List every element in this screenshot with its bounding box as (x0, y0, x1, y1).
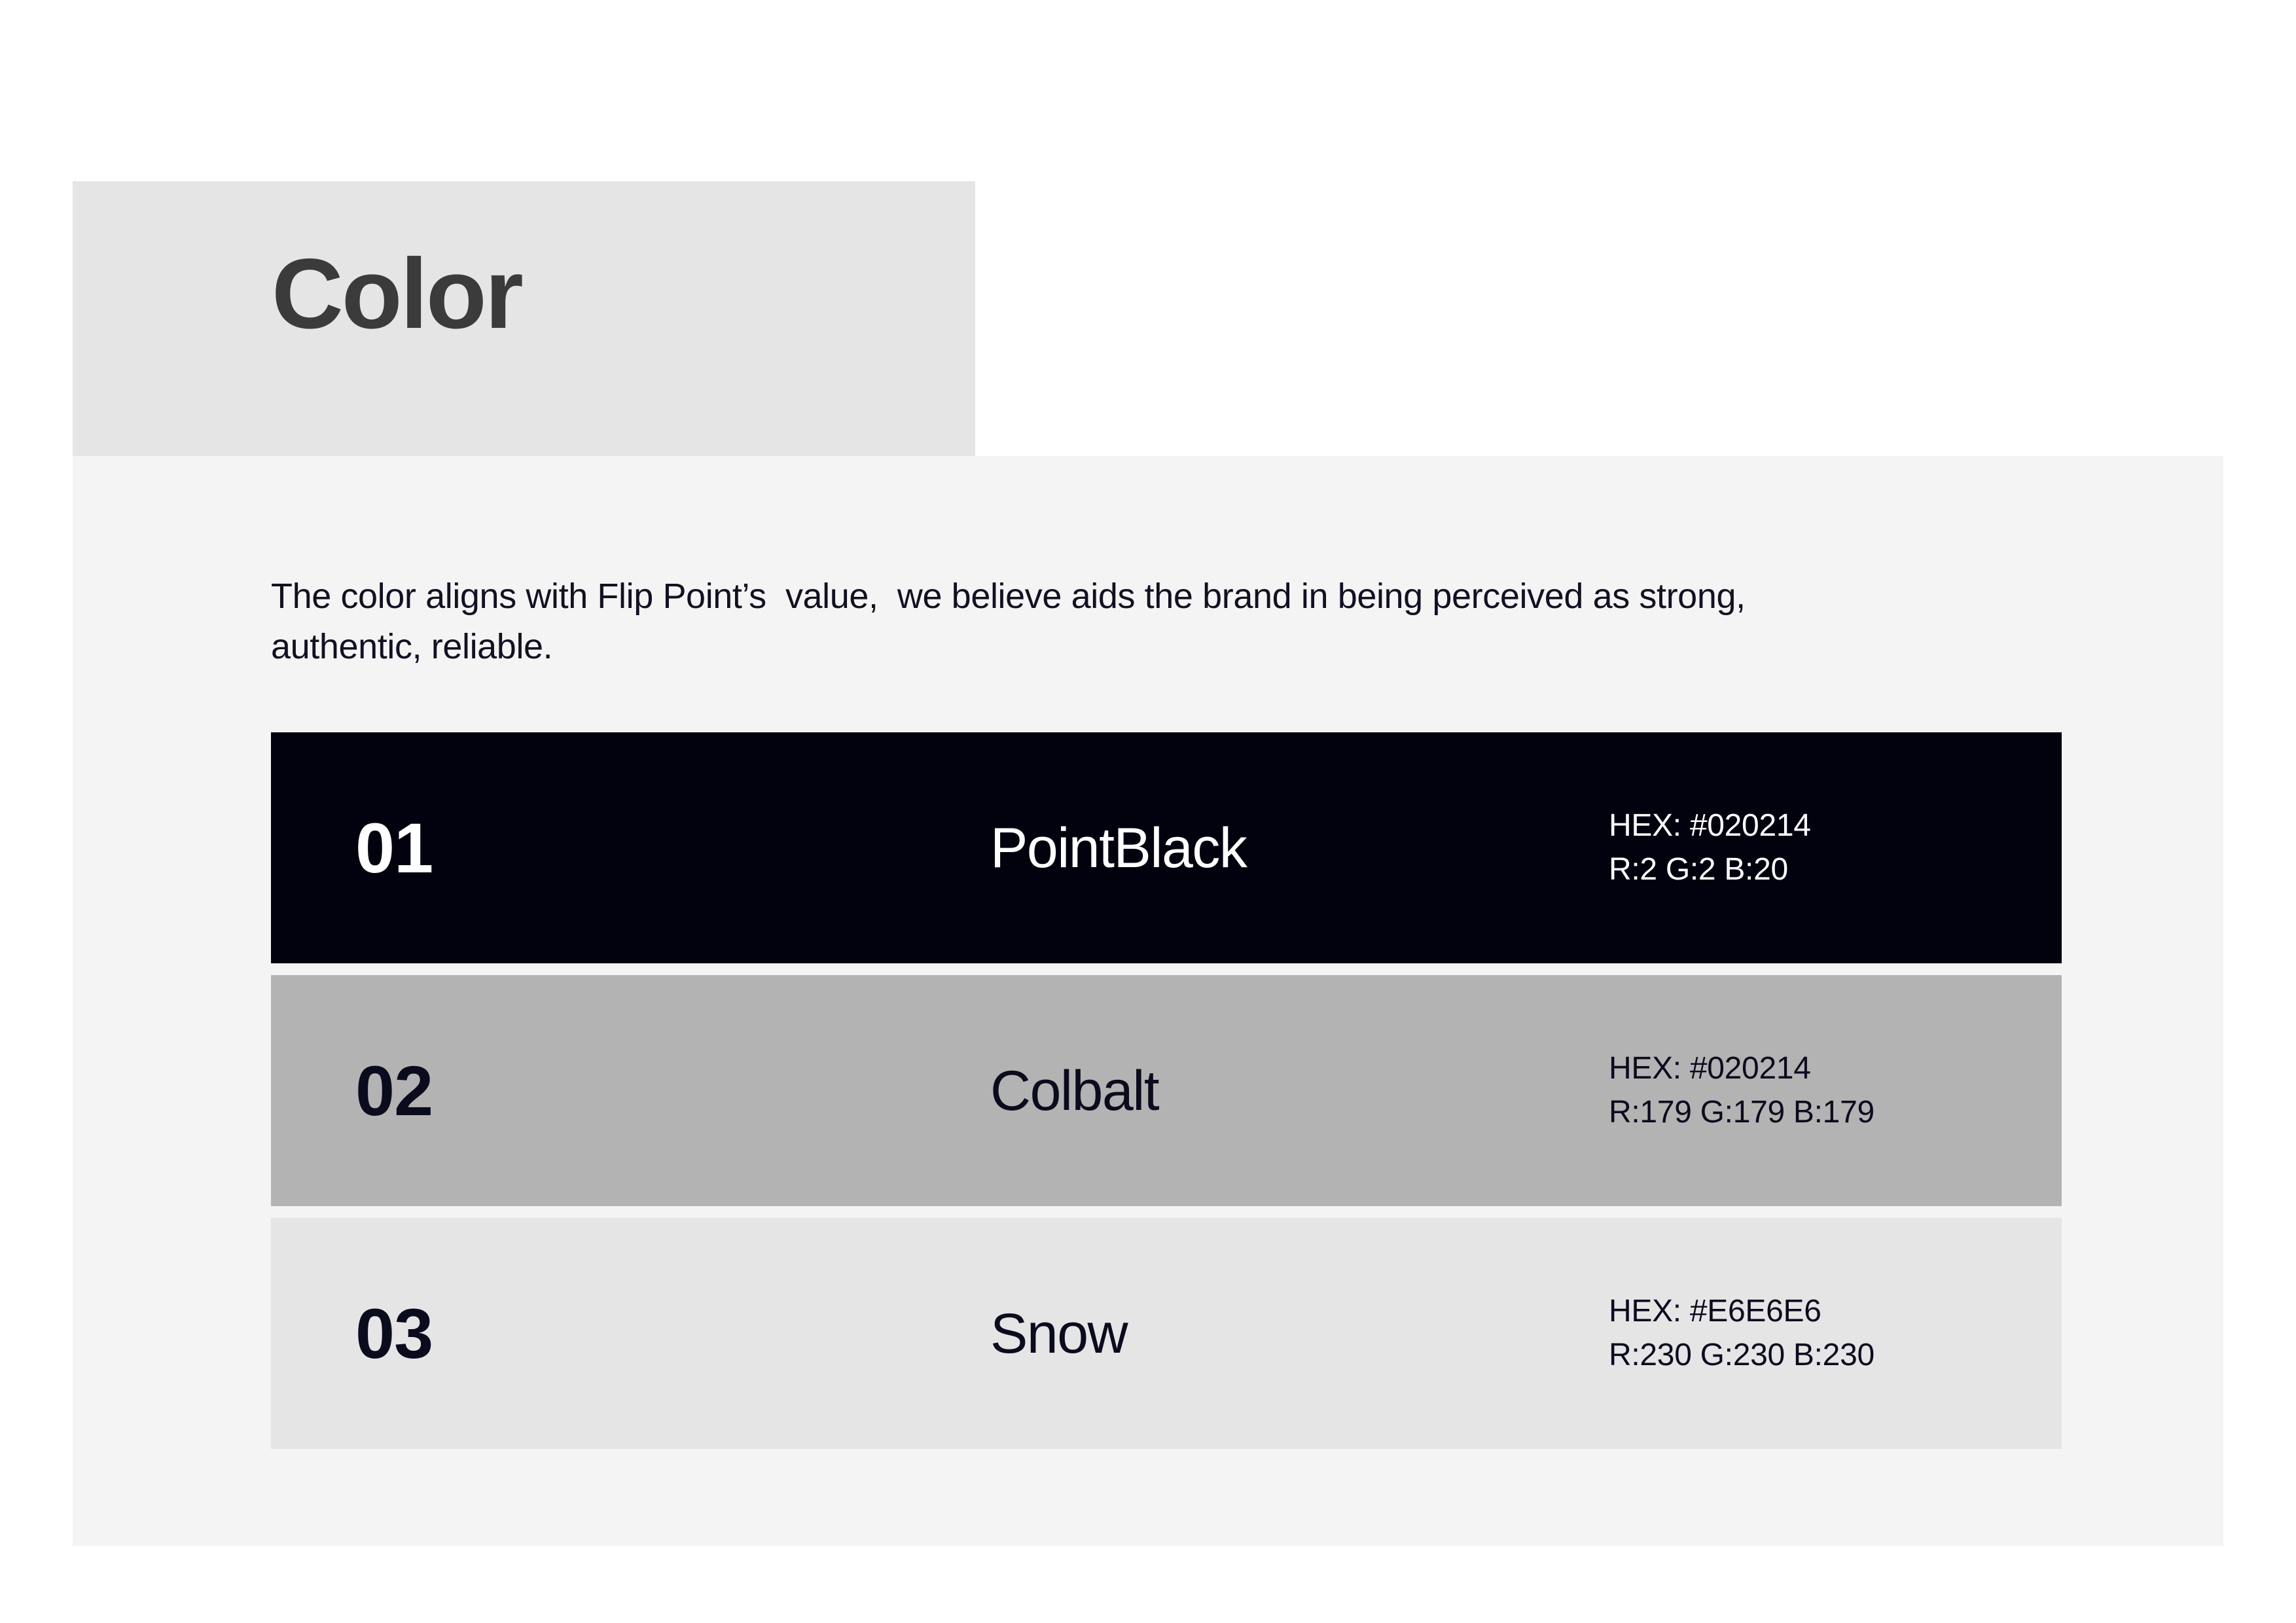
swatch-rgb-value: R:230 G:230 B:230 (1609, 1334, 1874, 1377)
swatch-rgb-value: R:179 G:179 B:179 (1609, 1091, 1874, 1134)
swatch-values: HEX: #020214 R:2 G:2 B:20 (1609, 804, 1811, 891)
swatch-rgb-value: R:2 G:2 B:20 (1609, 848, 1811, 891)
color-swatch-row[interactable]: 01 PointBlack HEX: #020214 R:2 G:2 B:20 (271, 732, 2062, 963)
swatch-hex-value: HEX: #020214 (1609, 804, 1811, 847)
color-swatch-list: 01 PointBlack HEX: #020214 R:2 G:2 B:20 … (271, 732, 2062, 1449)
swatch-hex-value: HEX: #020214 (1609, 1047, 1874, 1090)
swatch-hex-value: HEX: #E6E6E6 (1609, 1290, 1874, 1333)
swatch-index: 03 (355, 1298, 433, 1369)
swatch-name: PointBlack (990, 820, 1246, 876)
page-header-block: Color (73, 181, 975, 456)
color-content-panel: The color aligns with Flip Point’s value… (73, 456, 2223, 1546)
swatch-values: HEX: #020214 R:179 G:179 B:179 (1609, 1047, 1874, 1133)
swatch-values: HEX: #E6E6E6 R:230 G:230 B:230 (1609, 1290, 1874, 1376)
swatch-index: 02 (355, 1056, 433, 1126)
intro-paragraph: The color aligns with Flip Point’s value… (271, 571, 1842, 671)
color-swatch-row[interactable]: 02 Colbalt HEX: #020214 R:179 G:179 B:17… (271, 975, 2062, 1206)
swatch-index: 01 (355, 813, 433, 883)
page-title: Color (272, 244, 522, 344)
color-swatch-row[interactable]: 03 Snow HEX: #E6E6E6 R:230 G:230 B:230 (271, 1218, 2062, 1449)
swatch-name: Snow (990, 1306, 1127, 1362)
swatch-name: Colbalt (990, 1063, 1158, 1119)
